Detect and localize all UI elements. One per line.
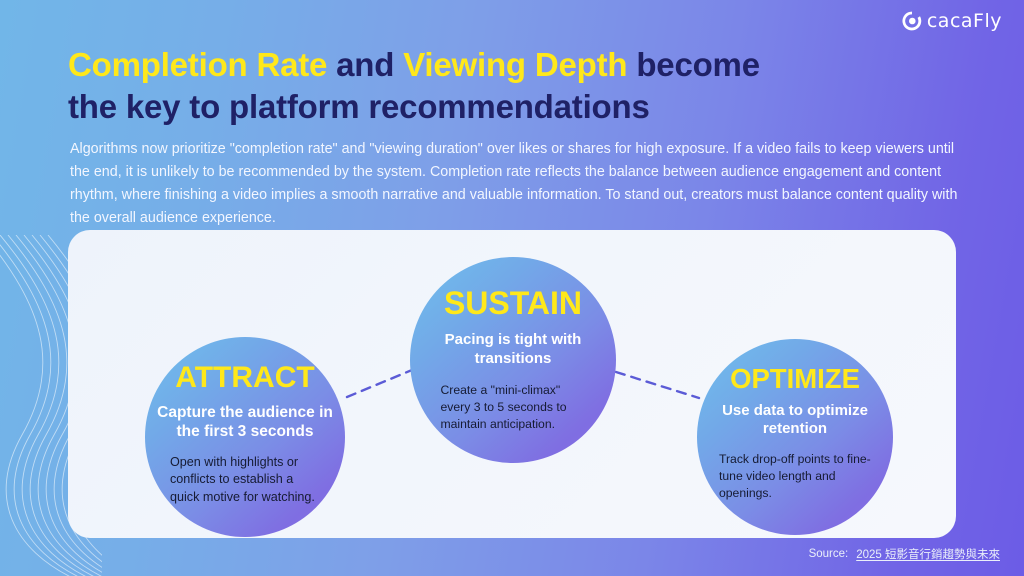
logo-wordmark: cacaFly	[927, 10, 1002, 32]
step-circle-sustain[interactable]: SUSTAIN Pacing is tight with transitions…	[410, 257, 616, 463]
title-segment-highlight-2: Viewing Depth	[403, 46, 627, 83]
step-subtitle-optimize: Use data to optimize retention	[710, 402, 880, 440]
title-segment-plain-2: become	[627, 46, 760, 83]
step-subtitle-attract: Capture the audience in the first 3 seco…	[145, 403, 345, 442]
slide-canvas: cacaFly Completion Rate and Viewing Dept…	[0, 0, 1024, 576]
step-title-optimize: OPTIMIZE	[730, 365, 860, 393]
source-label: Source:	[809, 548, 849, 560]
step-circle-attract[interactable]: ATTRACT Capture the audience in the firs…	[145, 337, 345, 537]
title-segment-plain-1: and	[327, 46, 403, 83]
step-description-optimize: Track drop-off points to fine-tune video…	[719, 451, 871, 502]
title-line-2: the key to platform recommendations	[68, 88, 650, 125]
intro-paragraph: Algorithms now prioritize "completion ra…	[70, 138, 958, 231]
step-title-attract: ATTRACT	[175, 363, 314, 393]
page-title: Completion Rate and Viewing Depth become…	[68, 44, 948, 127]
cacafly-logo: cacaFly	[901, 10, 1002, 32]
step-subtitle-sustain: Pacing is tight with transitions	[410, 331, 616, 369]
cacafly-circle-mark-icon	[901, 10, 923, 32]
step-description-sustain: Create a "mini-climax" every 3 to 5 seco…	[441, 382, 586, 433]
step-title-sustain: SUSTAIN	[444, 287, 582, 319]
source-link[interactable]: 2025 短影音行銷趨勢與未來	[856, 546, 1000, 562]
source-footer: Source: 2025 短影音行銷趨勢與未來	[809, 546, 1000, 562]
step-circle-optimize[interactable]: OPTIMIZE Use data to optimize retention …	[697, 339, 893, 535]
step-description-attract: Open with highlights or conflicts to est…	[170, 454, 320, 507]
title-segment-highlight-1: Completion Rate	[68, 46, 327, 83]
